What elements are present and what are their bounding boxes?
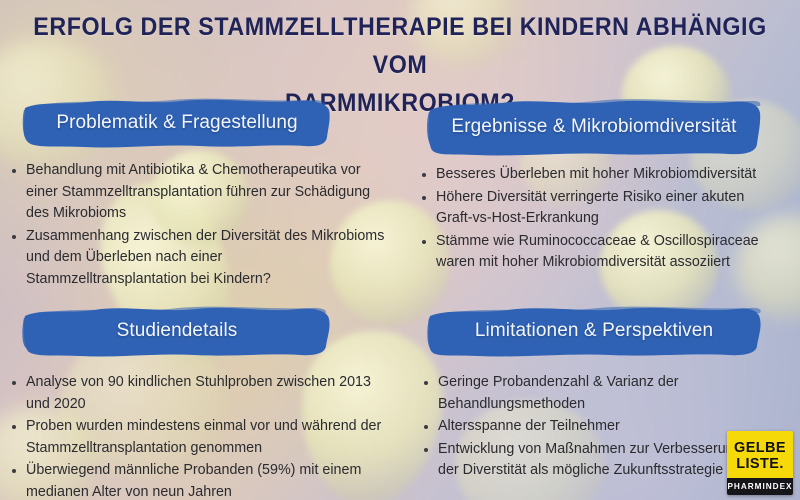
list-item: Stämme wie Ruminococcaceae & Oscillospir… — [420, 231, 774, 274]
list-item: Proben wurden mindestens einmal vor und … — [10, 416, 382, 459]
list-item: Analyse von 90 kindlichen Stuhlproben zw… — [10, 372, 382, 415]
section-banner: Problematik & Fragestellung — [22, 96, 332, 150]
list-item: Überwiegend männliche Probanden (59%) mi… — [10, 460, 382, 500]
bullet-list: Geringe Probandenzahl & Varianz der Beha… — [422, 372, 764, 482]
panel-ergebnisse-mikrobiomdiversitaet: Ergebnisse & Mikrobiomdiversität Bessere… — [400, 96, 800, 275]
list-item: Höhere Diversität verringerte Risiko ein… — [420, 187, 774, 230]
list-item: Besseres Überleben mit hoher Mikrobiomdi… — [420, 164, 774, 186]
section-banner: Studiendetails — [22, 304, 332, 358]
gelbe-liste-logo[interactable]: GELBE LISTE. PHARMINDEX — [727, 431, 793, 495]
bullet-list: Besseres Überleben mit hoher Mikrobiomdi… — [420, 164, 774, 274]
list-item: Zusammenhang zwischen der Diversität des… — [10, 226, 386, 291]
list-item: Behandlung mit Antibiotika & Chemotherap… — [10, 160, 386, 225]
section-banner: Limitationen & Perspektiven — [426, 304, 762, 358]
list-item: Entwicklung von Maßnahmen zur Verbesseru… — [422, 439, 764, 482]
section-heading: Limitationen & Perspektiven — [463, 320, 725, 342]
list-item: Geringe Probandenzahl & Varianz der Beha… — [422, 372, 764, 415]
page-title-line-1: ERFOLG DER STAMMZELLTHERAPIE BEI KINDERN… — [28, 8, 772, 84]
section-heading: Problematik & Fragestellung — [44, 112, 309, 134]
logo-tagline: PHARMINDEX — [727, 478, 793, 495]
section-heading: Studiendetails — [105, 320, 250, 342]
infographic-slide: ERFOLG DER STAMMZELLTHERAPIE BEI KINDERN… — [0, 0, 800, 500]
logo-line-1: GELBE — [727, 440, 793, 456]
panel-studiendetails: Studiendetails Analyse von 90 kindlichen… — [0, 304, 400, 500]
panel-problematik-fragestellung: Problematik & Fragestellung Behandlung m… — [0, 96, 400, 291]
section-heading: Ergebnisse & Mikrobiomdiversität — [439, 116, 748, 138]
logo-wordmark: GELBE LISTE. — [727, 431, 793, 472]
list-item: Altersspanne der Teilnehmer — [422, 416, 764, 438]
bullet-list: Behandlung mit Antibiotika & Chemotherap… — [10, 160, 386, 290]
bullet-list: Analyse von 90 kindlichen Stuhlproben zw… — [10, 372, 382, 500]
logo-line-2: LISTE. — [727, 456, 793, 472]
section-banner: Ergebnisse & Mikrobiomdiversität — [426, 96, 762, 158]
